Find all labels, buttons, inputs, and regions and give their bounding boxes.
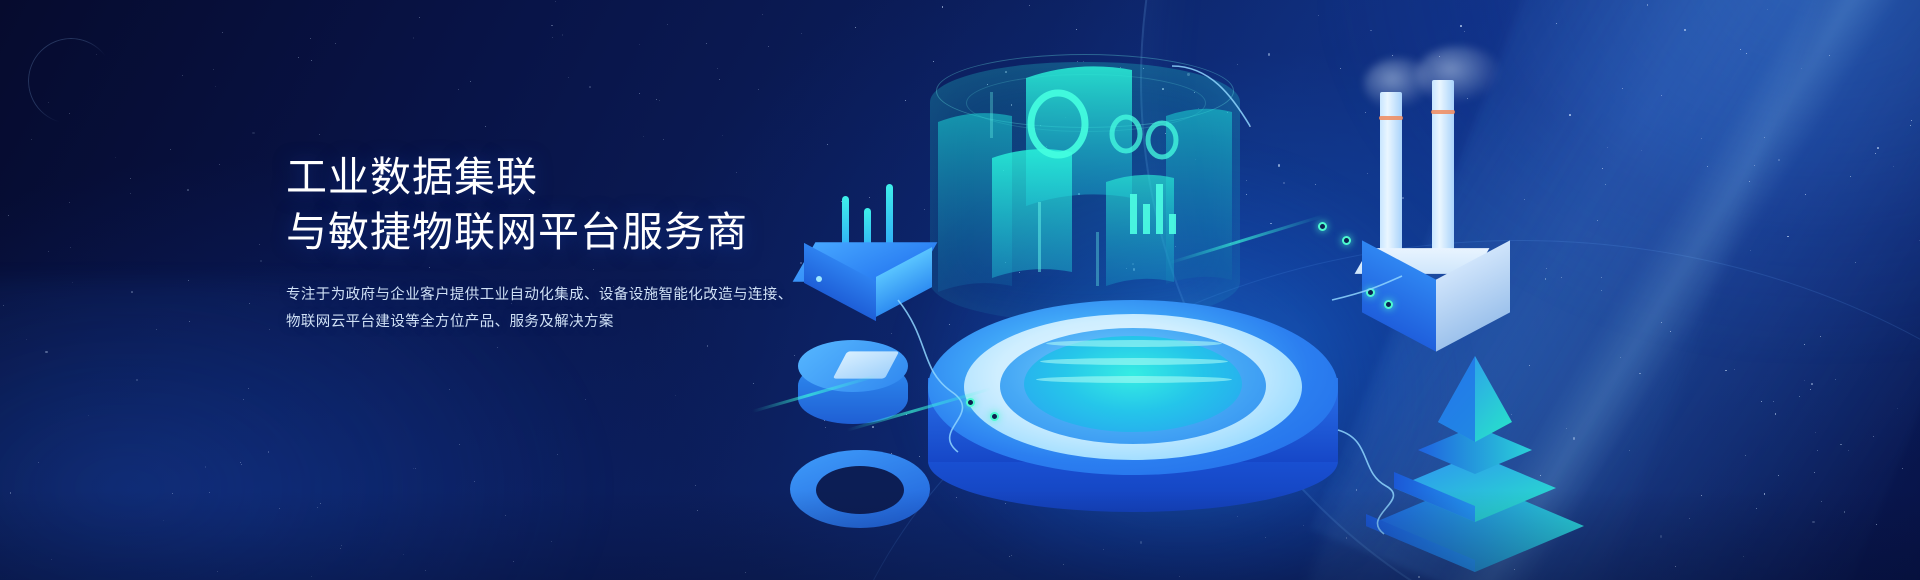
router-device <box>798 200 968 340</box>
center-disc-platform <box>928 300 1338 550</box>
connector-node-1 <box>966 398 975 407</box>
bottom-ring <box>790 450 930 560</box>
stepped-pyramid <box>1360 330 1590 560</box>
headline-line-1: 工业数据集联 <box>286 154 538 200</box>
tower-panel-mid-right <box>1106 175 1174 286</box>
disc-ring-inner <box>1024 336 1242 432</box>
disc-stripe-2 <box>1040 358 1228 365</box>
router-led <box>816 276 822 282</box>
pyramid-apex-shade <box>1438 356 1475 442</box>
disc-stripe-1 <box>1046 340 1222 347</box>
factory-smokestacks <box>1340 74 1550 324</box>
disc-stripe-3 <box>1036 376 1232 383</box>
connector-node-2 <box>990 412 999 421</box>
smokestack-right <box>1432 80 1454 258</box>
smokestack-left <box>1380 92 1402 252</box>
tower-streak-1 <box>1038 202 1041 272</box>
hero-illustration <box>780 0 1920 580</box>
tower-streak-2 <box>1096 232 1099 286</box>
tower-streak-3 <box>990 92 993 138</box>
tower-panel-mid-left <box>992 149 1072 278</box>
cylinder-chart <box>798 340 918 450</box>
smoke-puff-2 <box>1416 46 1502 104</box>
factory-port-2 <box>1384 300 1393 309</box>
factory-port-1 <box>1366 288 1375 297</box>
connector-node-3 <box>1318 222 1327 231</box>
crescent-moon-icon <box>28 38 114 124</box>
connector-node-4 <box>1342 236 1351 245</box>
hero-banner: 工业数据集联 与敏捷物联网平台服务商 专注于为政府与企业客户提供工业自动化集成、… <box>0 0 1920 580</box>
bottom-ring-inner <box>816 466 904 514</box>
